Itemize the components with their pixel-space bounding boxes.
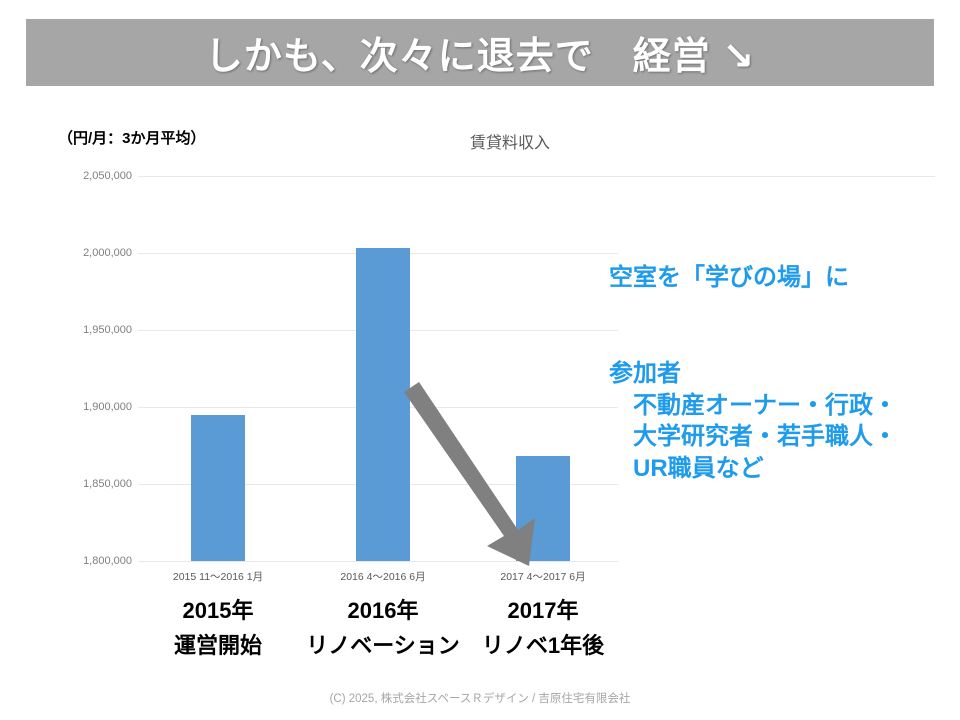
- x-axis-tick-label: 2017 4〜2017 6月: [500, 569, 585, 584]
- gridline: [138, 561, 618, 562]
- year-caption-subtitle: リノベ1年後: [482, 628, 604, 660]
- page-title: しかも、次々に退去で 経営 ↘: [26, 19, 934, 86]
- y-axis-tick-label: 2,050,000: [12, 170, 132, 182]
- callout-heading: 空室を「学びの場」に: [609, 257, 849, 292]
- x-axis-tick-label: 2016 4〜2016 6月: [340, 569, 425, 584]
- chart-title: 賃貸料収入: [470, 129, 550, 153]
- year-caption-year: 2016年: [348, 593, 419, 625]
- year-caption-year: 2017年: [508, 593, 579, 625]
- bar: [516, 456, 570, 561]
- bar: [356, 248, 410, 561]
- y-axis-tick-label: 1,850,000: [12, 478, 132, 490]
- callout-participants: 参加者 不動産オーナー・行政・ 大学研究者・若手職人・ UR職員など: [609, 358, 897, 485]
- year-caption-subtitle: 運営開始: [174, 628, 262, 660]
- gridline: [138, 176, 935, 177]
- y-axis-tick-label: 1,950,000: [12, 324, 132, 336]
- bar: [191, 415, 245, 561]
- y-axis-tick-label: 1,900,000: [12, 401, 132, 413]
- y-axis-tick-label: 2,000,000: [12, 247, 132, 259]
- axis-unit-label: （円/月：3か月平均）: [58, 127, 206, 148]
- year-caption-subtitle: リノベーション: [306, 628, 460, 660]
- footer-copyright: (C) 2025, 株式会社スペースＲデザイン / 吉原住宅有限会社: [0, 690, 960, 706]
- y-axis-tick-label: 1,800,000: [12, 555, 132, 567]
- x-axis-tick-label: 2015 11〜2016 1月: [173, 569, 263, 584]
- year-caption-year: 2015年: [183, 593, 254, 625]
- header-banner: しかも、次々に退去で 経営 ↘: [26, 19, 934, 86]
- bar-chart: （円/月：3か月平均） 賃貸料収入 2,050,0002,000,0001,95…: [0, 100, 960, 610]
